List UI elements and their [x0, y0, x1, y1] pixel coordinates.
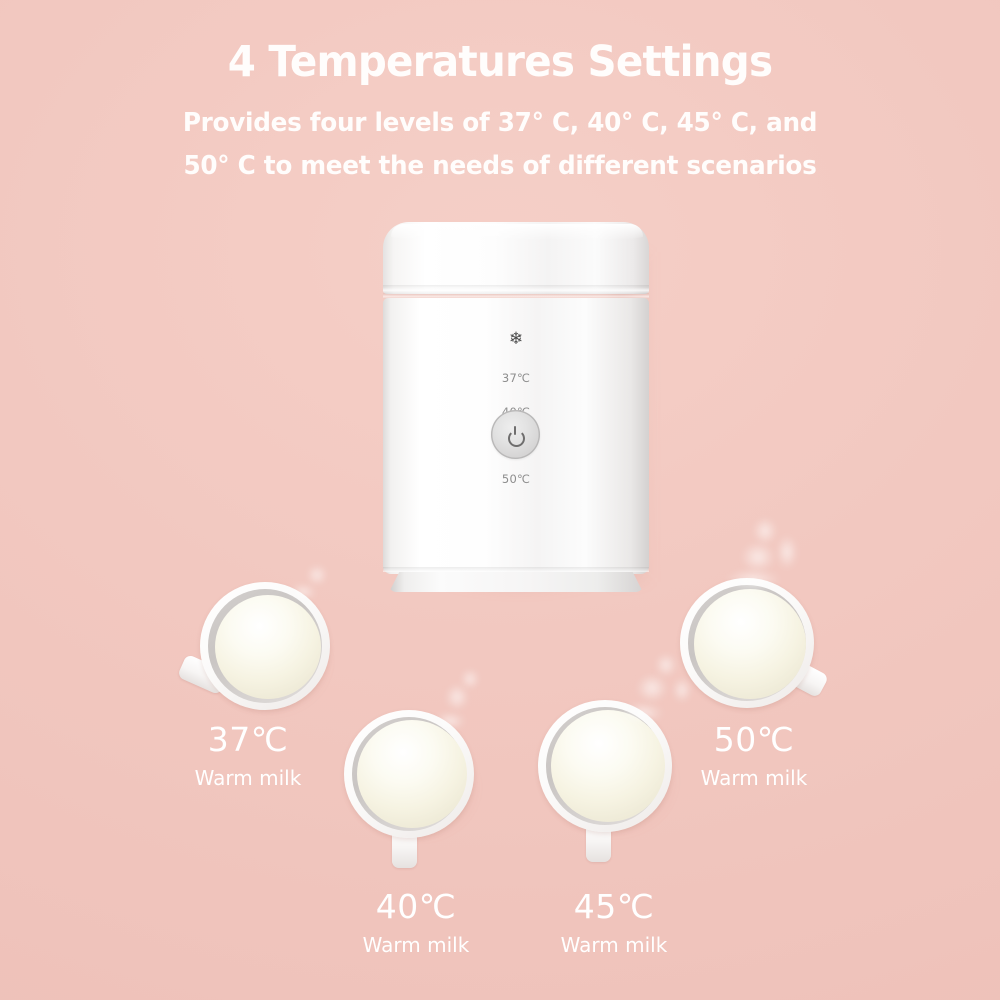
- device-lid-seam: [383, 285, 649, 299]
- subtitle-line-2: 50° C to meet the needs of different sce…: [25, 145, 975, 188]
- cup-40-caption: 40℃ Warm milk: [326, 890, 506, 955]
- device-lid-highlight: [391, 224, 643, 240]
- panel-temp-37[interactable]: 37℃: [380, 373, 652, 385]
- header-block: 4 Temperatures Settings Provides four le…: [0, 38, 1000, 188]
- cup-45: [528, 694, 698, 874]
- milk-warmer-device: ❄ 37℃ 40℃ 45℃ 50℃: [380, 222, 652, 590]
- milk-surface: [694, 589, 806, 699]
- power-icon: [507, 426, 524, 443]
- cup-37-caption: 37℃ Warm milk: [158, 723, 338, 788]
- page-subtitle: Provides four levels of 37° C, 40° C, 45…: [25, 102, 975, 188]
- promo-image-canvas: 4 Temperatures Settings Provides four le…: [0, 0, 1000, 1000]
- milk-surface: [357, 720, 467, 828]
- page-title: 4 Temperatures Settings: [30, 38, 970, 86]
- power-button[interactable]: [491, 410, 540, 459]
- device-base: [389, 572, 643, 592]
- cup-37-temperature: 37℃: [158, 723, 338, 756]
- cup-37-label: Warm milk: [158, 768, 338, 788]
- milk-surface: [551, 710, 665, 822]
- cup-45-temperature: 45℃: [524, 890, 704, 923]
- cup-40-label: Warm milk: [326, 935, 506, 955]
- cup-37: [182, 578, 342, 728]
- device-base-seam: [383, 567, 649, 572]
- cup-45-caption: 45℃ Warm milk: [524, 890, 704, 955]
- subtitle-line-1: Provides four levels of 37° C, 40° C, 45…: [25, 102, 975, 145]
- cup-40-temperature: 40℃: [326, 890, 506, 923]
- milk-surface: [215, 595, 321, 699]
- cup-45-label: Warm milk: [524, 935, 704, 955]
- cup-40: [336, 704, 496, 874]
- panel-temp-50[interactable]: 50℃: [380, 474, 652, 486]
- snowflake-icon[interactable]: ❄: [380, 330, 652, 347]
- device-lid[interactable]: [383, 222, 649, 294]
